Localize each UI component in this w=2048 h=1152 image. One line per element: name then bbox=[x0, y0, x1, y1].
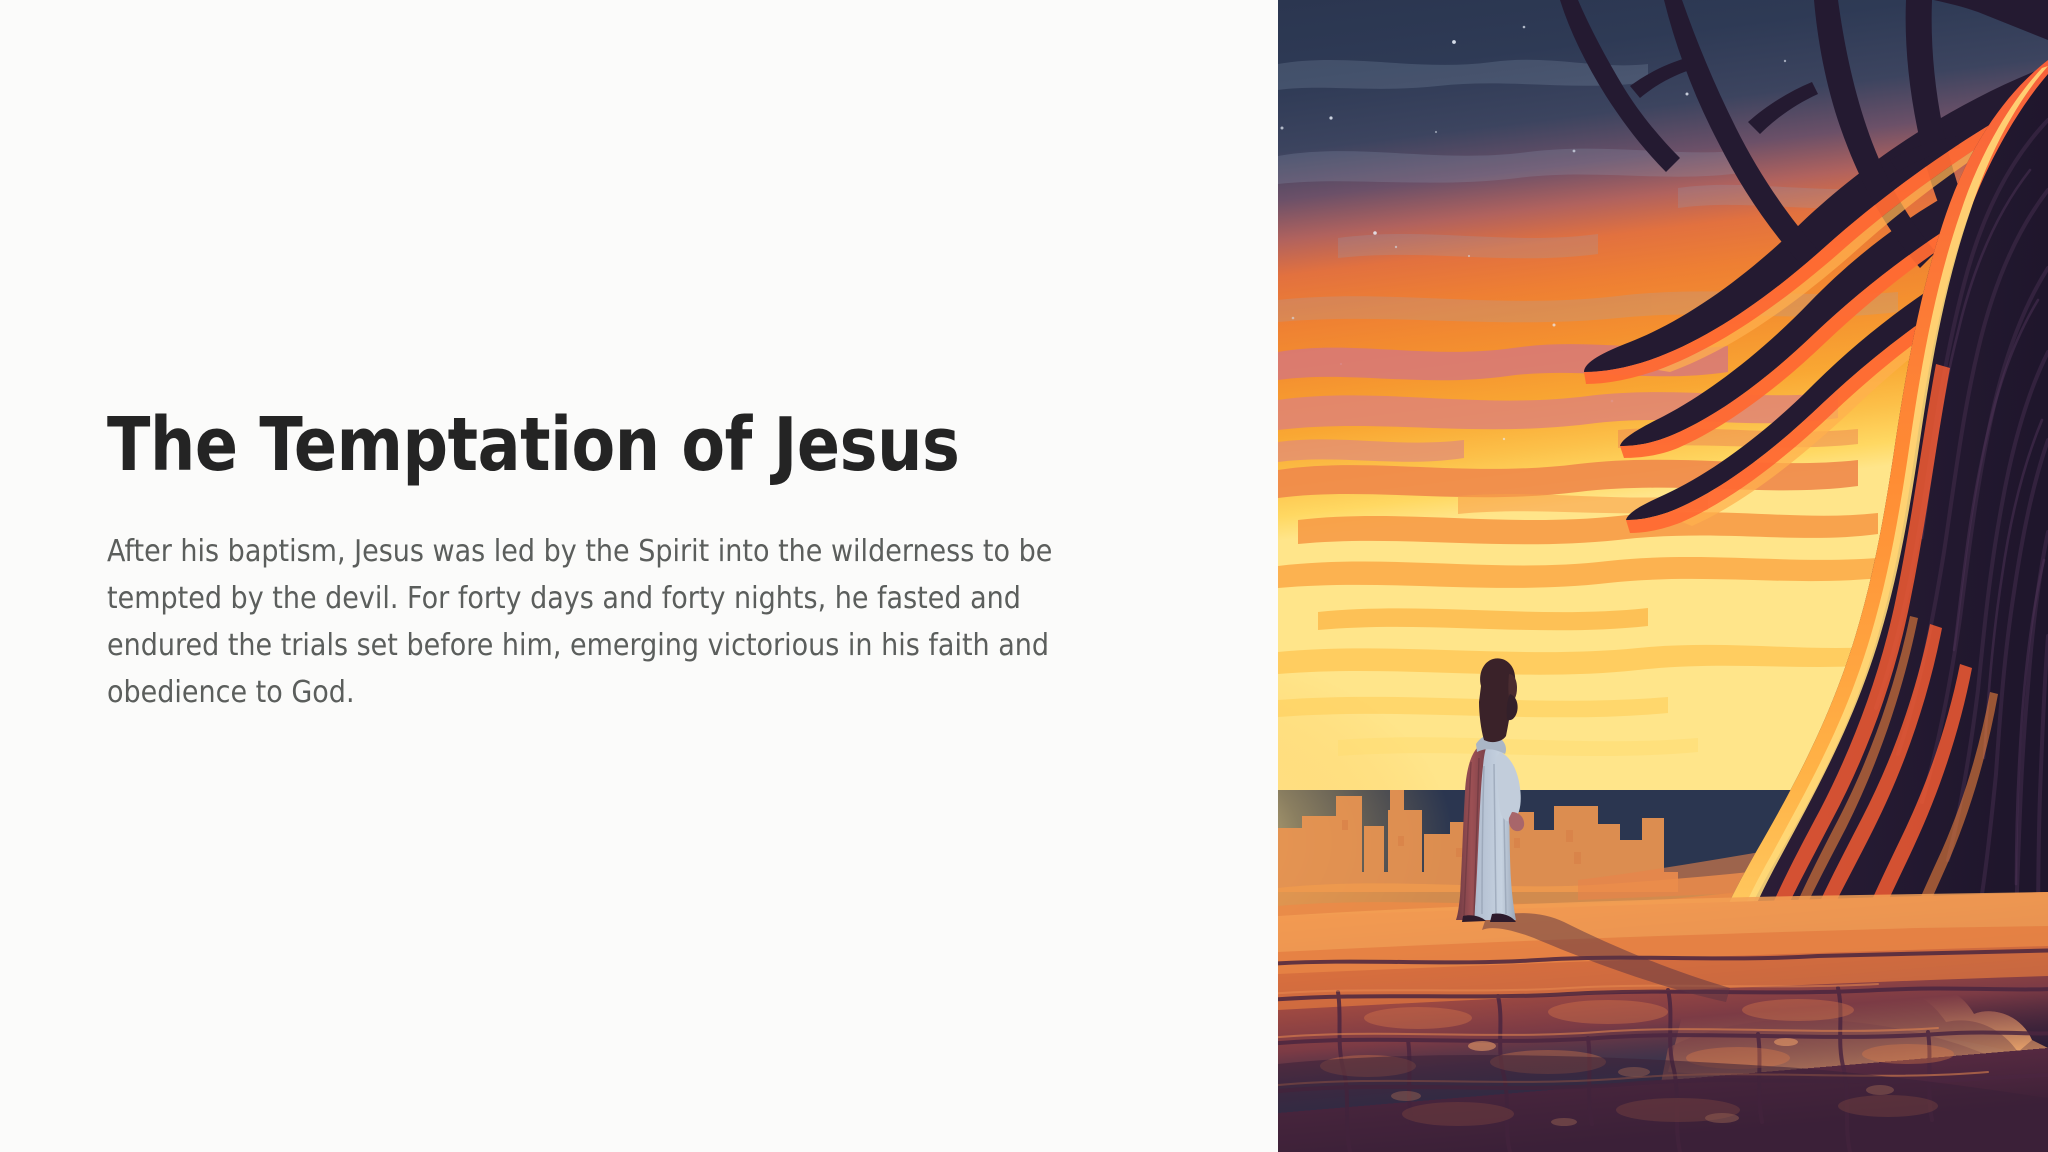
illustration-panel bbox=[1278, 0, 2048, 1152]
desert-sunset-illustration bbox=[1278, 0, 2048, 1152]
text-block: The Temptation of Jesus After his baptis… bbox=[107, 408, 1117, 716]
page-title: The Temptation of Jesus bbox=[107, 408, 976, 482]
text-panel: The Temptation of Jesus After his baptis… bbox=[0, 0, 1278, 1152]
slide-root: The Temptation of Jesus After his baptis… bbox=[0, 0, 2048, 1152]
body-paragraph: After his baptism, Jesus was led by the … bbox=[107, 528, 1088, 716]
